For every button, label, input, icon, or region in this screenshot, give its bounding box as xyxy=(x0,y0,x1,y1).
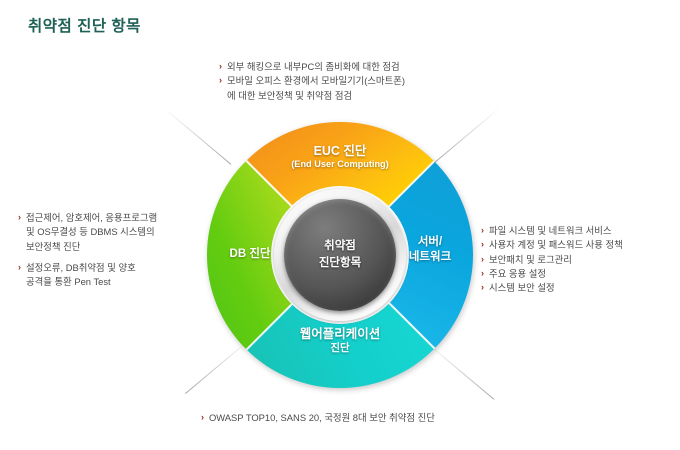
bullet-text: 보안정책 진단 xyxy=(26,241,80,252)
bullet-item: › 설정오류, DB취약점 및 양호 xyxy=(18,261,157,275)
bullet-text: 보안패치 및 로그관리 xyxy=(489,254,572,265)
bullet-item: › 외부 해킹으로 내부PC의 좀비화에 대한 점검 xyxy=(219,60,405,74)
bullet-marker-icon: › xyxy=(481,267,484,281)
segment-label-db: DB 진단 xyxy=(213,247,287,262)
bullet-text: 시스템 보안 설정 xyxy=(489,282,555,293)
vulnerability-assessment-donut-diagram: 취약점 진단항목 EUC 진단 (End User Computing) 서버/… xyxy=(207,122,473,388)
callout-web-application: › OWASP TOP10, SANS 20, 국정원 8대 보안 취약점 진단 xyxy=(201,411,435,425)
segment-label-web-sub: 진단 xyxy=(207,342,473,356)
bullet-text: 에 대한 보안정책 및 취약점 점검 xyxy=(227,90,352,101)
bullet-text: 파일 시스템 및 네트워크 서비스 xyxy=(489,225,612,236)
segment-label-euc-sub: (End User Computing) xyxy=(207,159,473,171)
bullet-marker-icon: › xyxy=(18,211,21,225)
bullet-text: 주요 응용 설정 xyxy=(489,268,546,279)
bullet-marker-icon: › xyxy=(219,60,222,74)
bullet-item: › 주요 응용 설정 xyxy=(481,267,623,281)
center-title-line1: 취약점 xyxy=(324,238,356,255)
segment-label-euc: EUC 진단 (End User Computing) xyxy=(207,143,473,171)
bullet-item: › 접근제어, 암호제어, 응용프로그램 xyxy=(18,211,157,225)
callout-db: › 접근제어, 암호제어, 응용프로그램 및 OS무결성 등 DBMS 시스템의… xyxy=(18,211,157,289)
segment-label-server-network: 서버/ 네트워크 xyxy=(394,235,466,265)
bullet-text: 모바일 오피스 환경에서 모바일기기(스마트폰) xyxy=(227,75,405,86)
segment-label-web-main: 웹어플리케이션 xyxy=(207,326,473,342)
page-title: 취약점 진단 항목 xyxy=(28,14,141,36)
segment-label-server-line2: 네트워크 xyxy=(394,250,466,265)
center-core: 취약점 진단항목 xyxy=(284,199,396,311)
bullet-marker-icon: › xyxy=(481,281,484,295)
bullet-text: 및 OS무결성 등 DBMS 시스템의 xyxy=(26,226,155,237)
bullet-item: › 모바일 오피스 환경에서 모바일기기(스마트폰) xyxy=(219,74,405,88)
bullet-item: › 보안패치 및 로그관리 xyxy=(481,253,623,267)
bullet-text: 공격을 통환 Pen Test xyxy=(26,276,111,287)
callout-euc: › 외부 해킹으로 내부PC의 좀비화에 대한 점검 › 모바일 오피스 환경에… xyxy=(219,60,405,103)
bullet-item: › 시스템 보안 설정 xyxy=(481,281,623,295)
bullet-marker-icon: › xyxy=(18,261,21,275)
bullet-item: › 파일 시스템 및 네트워크 서비스 xyxy=(481,224,623,238)
bullet-item-continuation: 보안정책 진단 xyxy=(18,240,157,254)
bullet-marker-icon: › xyxy=(481,224,484,238)
bullet-text: OWASP TOP10, SANS 20, 국정원 8대 보안 취약점 진단 xyxy=(209,412,435,423)
center-title-line2: 진단항목 xyxy=(319,255,361,272)
bullet-item-continuation: 및 OS무결성 등 DBMS 시스템의 xyxy=(18,225,157,239)
bullet-item-continuation: 에 대한 보안정책 및 취약점 점검 xyxy=(219,89,405,103)
segment-label-db-main: DB 진단 xyxy=(213,247,287,262)
bullet-marker-icon: › xyxy=(481,238,484,252)
bullet-item-continuation: 공격을 통환 Pen Test xyxy=(18,275,157,289)
bullet-item: › OWASP TOP10, SANS 20, 국정원 8대 보안 취약점 진단 xyxy=(201,411,435,425)
callout-server-network: › 파일 시스템 및 네트워크 서비스 › 사용자 계정 및 패스워드 사용 정… xyxy=(481,224,623,295)
segment-label-web-application: 웹어플리케이션 진단 xyxy=(207,326,473,356)
bullet-item: › 사용자 계정 및 패스워드 사용 정책 xyxy=(481,238,623,252)
bullet-text: 외부 해킹으로 내부PC의 좀비화에 대한 점검 xyxy=(227,61,400,72)
bullet-text: 사용자 계정 및 패스워드 사용 정책 xyxy=(489,239,623,250)
spacer xyxy=(18,254,157,261)
bullet-text: 설정오류, DB취약점 및 양호 xyxy=(26,262,136,273)
bullet-text: 접근제어, 암호제어, 응용프로그램 xyxy=(26,212,157,223)
segment-label-euc-main: EUC 진단 xyxy=(207,143,473,159)
segment-label-server-line1: 서버/ xyxy=(394,235,466,250)
bullet-marker-icon: › xyxy=(201,411,204,425)
bullet-marker-icon: › xyxy=(481,253,484,267)
bullet-marker-icon: › xyxy=(219,74,222,88)
